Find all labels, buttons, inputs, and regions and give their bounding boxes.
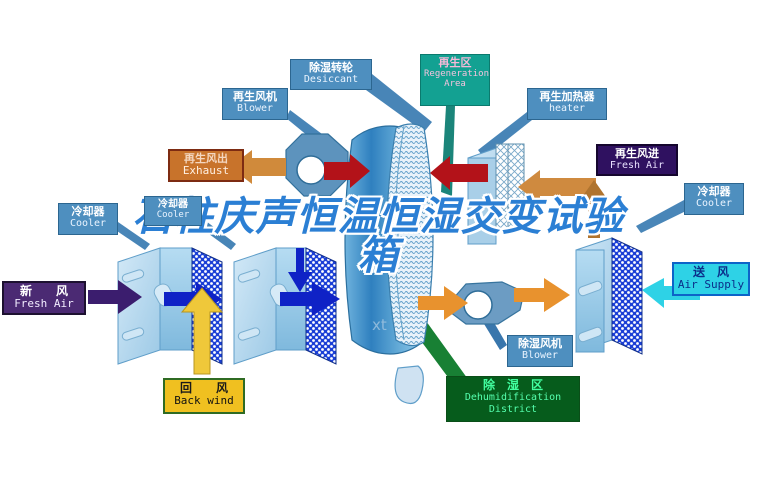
label-fresh-air-right-en: Fresh Air bbox=[601, 160, 673, 171]
label-regen-area-cn: 再生区 bbox=[424, 57, 486, 69]
arrow-orange-2 bbox=[514, 278, 570, 312]
label-regen-heater-en: heater bbox=[531, 103, 603, 114]
label-regen-area-en: Regeneration Area bbox=[424, 69, 486, 89]
label-dehum-blower-en: Blower bbox=[511, 350, 569, 361]
label-regen-heater-cn: 再生加热器 bbox=[531, 91, 603, 103]
label-cooler-mid-en: Cooler bbox=[148, 210, 198, 220]
label-regen-heater: 再生加热器heater bbox=[527, 88, 607, 120]
label-dehum-district-cn: 除 湿 区 bbox=[450, 379, 576, 392]
label-regen-blower: 再生风机Blower bbox=[222, 88, 288, 120]
label-air-supply: 送 风Air Supply bbox=[672, 262, 750, 296]
label-cooler-mid: 冷却器Cooler bbox=[144, 196, 202, 226]
label-desiccant-cn: 除湿转轮 bbox=[294, 62, 368, 74]
label-desiccant-en: Desiccant bbox=[294, 74, 368, 85]
label-desiccant: 除湿转轮Desiccant bbox=[290, 59, 372, 90]
label-air-supply-cn: 送 风 bbox=[677, 266, 745, 279]
label-dehum-blower-cn: 除湿风机 bbox=[511, 338, 569, 350]
cooler-unit-right bbox=[576, 238, 642, 354]
label-cooler-right: 冷却器Cooler bbox=[684, 183, 744, 215]
label-regen-area: 再生区Regeneration Area bbox=[420, 54, 490, 106]
label-fresh-air-left: 新 风Fresh Air bbox=[2, 281, 86, 315]
label-cooler-right-en: Cooler bbox=[688, 198, 740, 209]
label-dehum-district: 除 湿 区Dehumidification District bbox=[446, 376, 580, 422]
label-fresh-air-right-cn: 再生风进 bbox=[601, 148, 673, 160]
label-fresh-air-right: 再生风进Fresh Air bbox=[596, 144, 678, 176]
label-dehum-blower: 除湿风机Blower bbox=[507, 335, 573, 367]
label-exhaust-en: Exhaust bbox=[173, 165, 239, 177]
label-cooler-right-cn: 冷却器 bbox=[688, 186, 740, 198]
label-fresh-air-left-en: Fresh Air bbox=[7, 298, 81, 310]
label-air-supply-en: Air Supply bbox=[677, 279, 745, 291]
label-exhaust: 再生风出Exhaust bbox=[168, 149, 244, 182]
schematic-artwork: xt bbox=[0, 0, 757, 488]
label-regen-blower-cn: 再生风机 bbox=[226, 91, 284, 103]
label-cooler-left-cn: 冷却器 bbox=[62, 206, 114, 218]
label-regen-blower-en: Blower bbox=[226, 103, 284, 114]
label-back-wind: 回 风Back wind bbox=[163, 378, 245, 414]
regen-heater-unit bbox=[468, 144, 524, 244]
label-dehum-district-en: Dehumidification District bbox=[450, 392, 576, 414]
label-back-wind-cn: 回 风 bbox=[168, 382, 240, 395]
label-cooler-left-en: Cooler bbox=[62, 218, 114, 229]
diagram-canvas: xt 石柱庆声恒温恒湿交变试验 箱 除湿转轮Desiccant再生风机Blowe… bbox=[0, 0, 757, 488]
label-fresh-air-left-cn: 新 风 bbox=[7, 285, 81, 298]
label-cooler-mid-cn: 冷却器 bbox=[148, 199, 198, 210]
label-cooler-left: 冷却器Cooler bbox=[58, 203, 118, 235]
label-back-wind-en: Back wind bbox=[168, 395, 240, 407]
watermark: xt bbox=[372, 316, 387, 334]
